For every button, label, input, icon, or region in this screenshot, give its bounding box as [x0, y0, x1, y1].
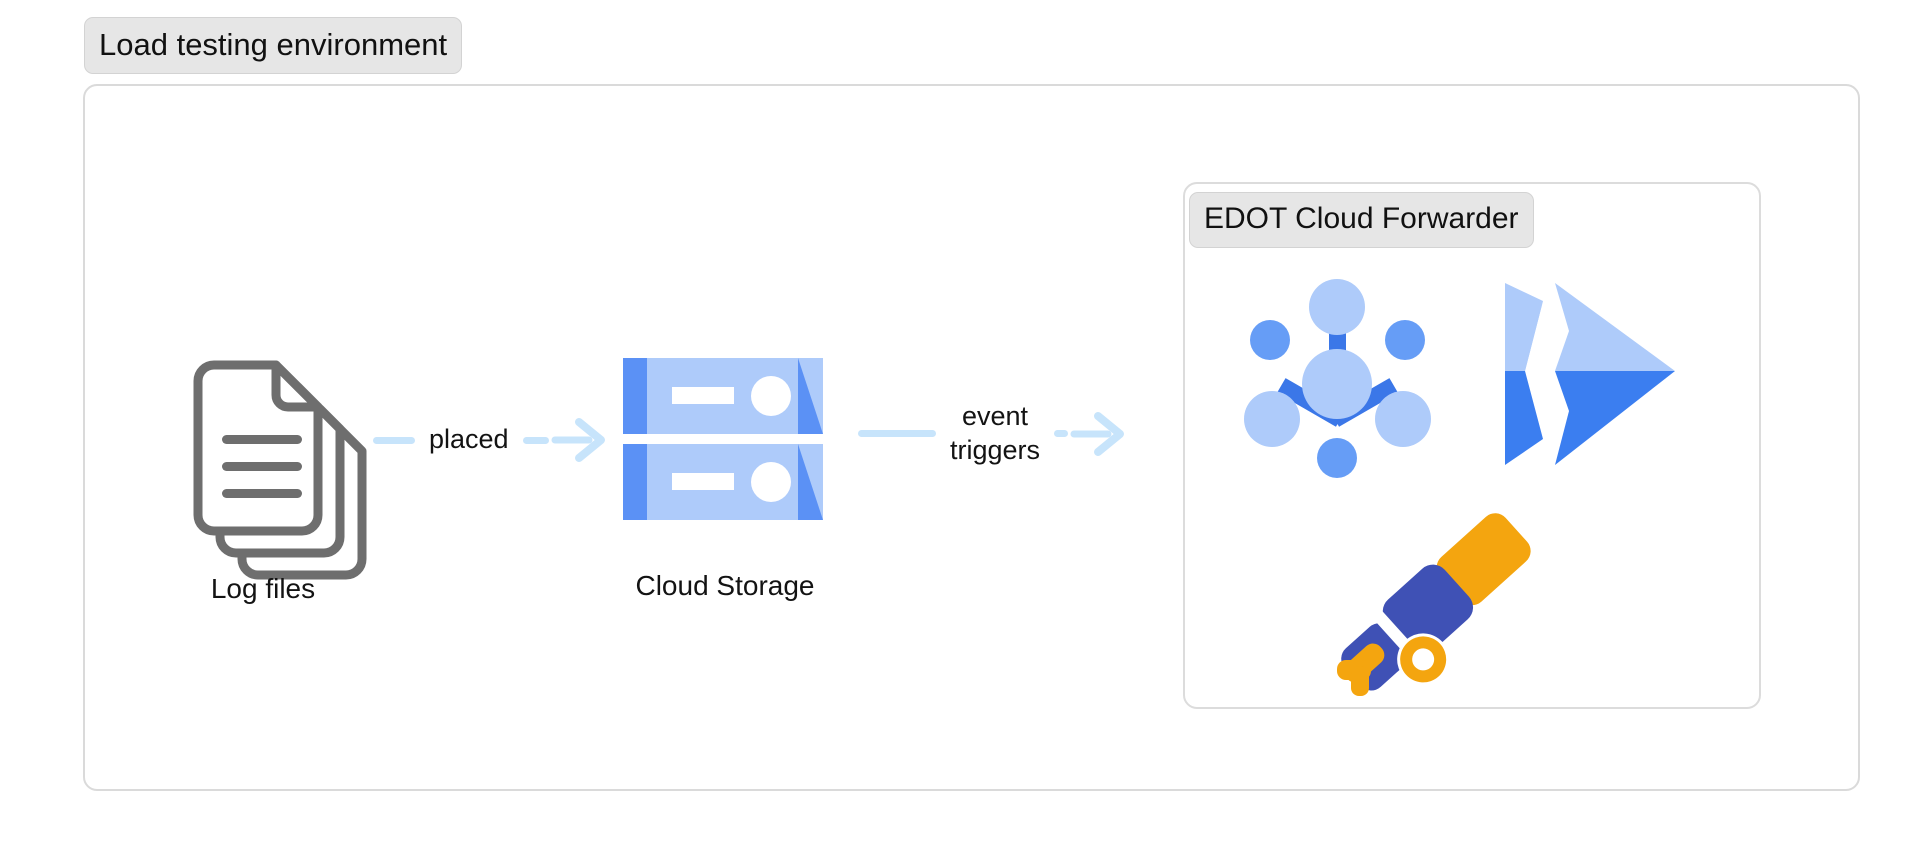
edge-line-segment — [373, 437, 415, 444]
edot-cloud-forwarder-group — [1183, 182, 1761, 709]
edge-line-segment — [858, 430, 936, 437]
arrow-head-icon — [549, 417, 609, 463]
edge-label-placed: placed — [415, 423, 523, 457]
node-log-files: Log files — [148, 305, 378, 545]
opentelemetry-logo — [1237, 276, 1437, 476]
edot-cloud-forwarder-label: EDOT Cloud Forwarder — [1189, 192, 1534, 248]
edge-label-event-triggers: event triggers — [936, 400, 1054, 468]
node-label-log-files: Log files — [148, 573, 378, 605]
edge-event-triggers: event triggers — [858, 400, 1178, 468]
arrow-head-icon — [1068, 411, 1128, 457]
node-cloud-storage: Cloud Storage — [620, 348, 830, 528]
documents-stack-icon — [148, 305, 378, 545]
telescope-icon — [1335, 494, 1555, 694]
server-rack-icon — [620, 348, 830, 528]
edge-placed: placed — [373, 417, 618, 463]
edge-line-segment — [523, 437, 549, 444]
edge-line-segment — [1054, 430, 1068, 437]
node-label-cloud-storage: Cloud Storage — [620, 570, 830, 602]
elastic-chevron-logo — [1503, 279, 1693, 469]
load-testing-environment-label: Load testing environment — [84, 17, 462, 74]
